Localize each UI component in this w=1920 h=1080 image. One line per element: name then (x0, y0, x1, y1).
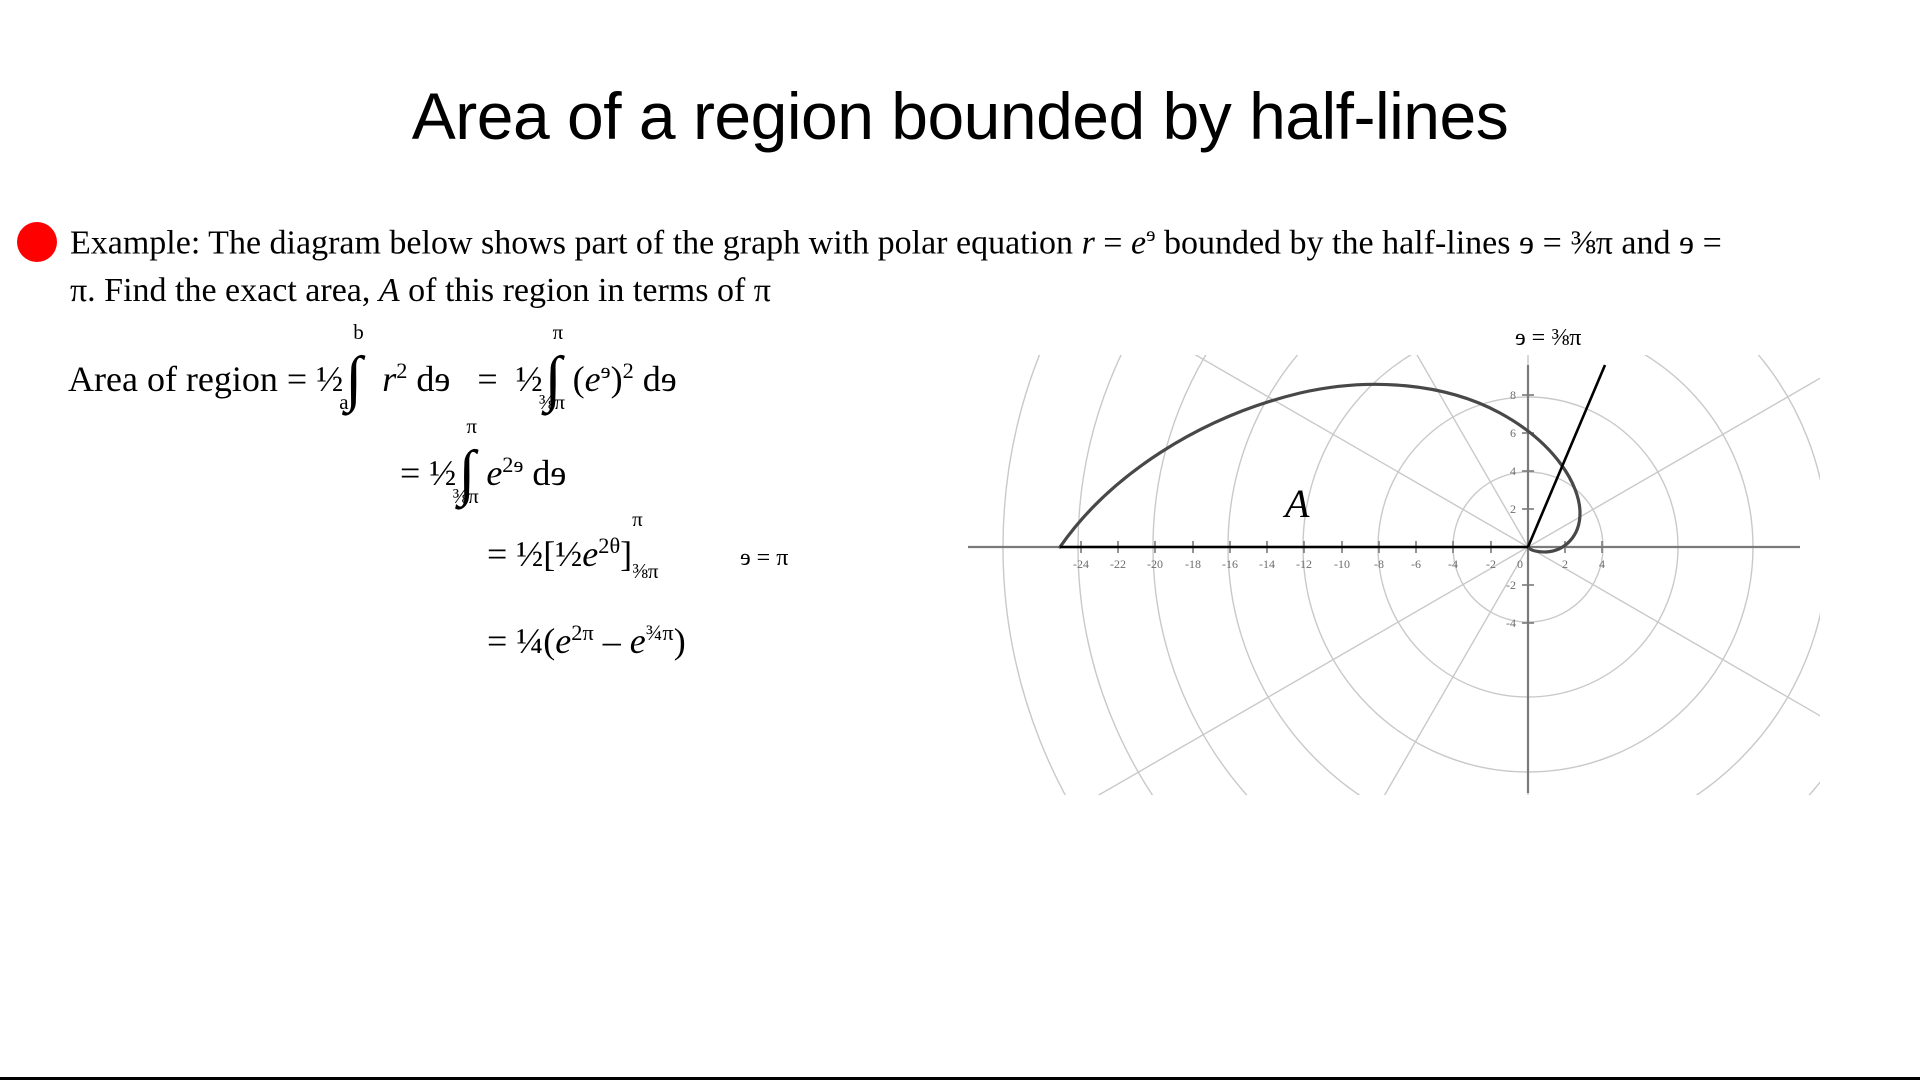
math4-minus: – (594, 621, 630, 661)
math3-e-exponent: 2θ (598, 533, 620, 558)
math3-e: e (582, 534, 598, 574)
math1-close-paren: ) (611, 359, 623, 399)
svg-text:0: 0 (1517, 557, 1523, 571)
math1-e-exponent: ɘ (601, 358, 611, 383)
svg-text:-18: -18 (1185, 557, 1201, 571)
svg-text:4: 4 (1510, 464, 1516, 478)
svg-text:-16: -16 (1222, 557, 1238, 571)
bracket-upper-limit: π (632, 507, 643, 532)
svg-text:2: 2 (1562, 557, 1568, 571)
math1-equals-2: = (477, 359, 497, 399)
svg-text:-8: -8 (1374, 557, 1384, 571)
bullet-marker-icon (17, 222, 57, 262)
math2-e: e (486, 453, 502, 493)
svg-text:-14: -14 (1259, 557, 1275, 571)
math1-e: e (585, 359, 601, 399)
svg-text:-4: -4 (1448, 557, 1458, 571)
math1-dtheta-2: dɘ (634, 359, 677, 399)
math4-e2: e (630, 621, 646, 661)
svg-text:-22: -22 (1110, 557, 1126, 571)
integral-1-lower-limit: a (339, 392, 348, 413)
math-line-2: = ½π∫⅜πe2ɘ dɘ (400, 452, 566, 498)
integral-1-upper-limit: b (353, 322, 364, 343)
integral-symbol-3: π∫⅜π (458, 456, 484, 498)
svg-text:-4: -4 (1506, 616, 1516, 630)
example-text-part2: bounded by the (1155, 224, 1373, 261)
svg-text:-2: -2 (1486, 557, 1496, 571)
polar-graph: -24-22 -20-18 -16-14 -12-10 -8-6 -4-2 02… (900, 355, 1820, 795)
svg-text:8: 8 (1510, 388, 1516, 402)
math4-close-paren: ) (674, 621, 686, 661)
math1-r: r (373, 359, 396, 399)
graph-svg: -24-22 -20-18 -16-14 -12-10 -8-6 -4-2 02… (900, 355, 1820, 795)
math1-open-paren: ( (573, 359, 585, 399)
svg-text:2: 2 (1510, 502, 1516, 516)
graph-label-theta-pi: ɘ = π (740, 545, 788, 572)
math3-close-bracket: ] (620, 534, 632, 574)
integral-3-lower-limit: ⅜π (452, 486, 478, 507)
math2-dtheta: dɘ (523, 453, 566, 493)
example-paragraph: Example: The diagram below shows part of… (70, 210, 1750, 315)
integral-2-upper-limit: π (553, 322, 564, 343)
integral-symbol-1: b∫a (345, 362, 371, 404)
svg-text:-20: -20 (1147, 557, 1163, 571)
math-line-1: Area of region = ½b∫a r2 dɘ = ½π∫⅜π(eɘ)2… (68, 358, 677, 404)
variable-r: r (1082, 224, 1095, 261)
svg-text:-6: -6 (1411, 557, 1421, 571)
bracket-lower-limit: ⅜π (632, 559, 658, 584)
svg-text:-24: -24 (1073, 557, 1089, 571)
equals-sign-1: = (1095, 224, 1131, 261)
slide-root: Area of a region bounded by half-lines E… (0, 0, 1920, 1080)
math1-squared: 2 (623, 358, 634, 383)
svg-text:-12: -12 (1296, 557, 1312, 571)
graph-label-region-A: A (1285, 480, 1309, 527)
page-title: Area of a region bounded by half-lines (0, 78, 1920, 154)
x-tick-labels: -24-22 -20-18 -16-14 -12-10 -8-6 -4-2 02… (1073, 557, 1605, 571)
example-text-part1: Example: The diagram below shows part of… (70, 224, 1082, 261)
math4-e2-exponent: ¾π (646, 620, 674, 645)
polar-grid-rays (1085, 355, 1820, 795)
variable-e: e (1131, 224, 1146, 261)
math1-dtheta: dɘ (407, 359, 450, 399)
math4-e1: e (555, 621, 571, 661)
polar-grid-circles (1003, 355, 1820, 795)
math1-r-exponent: 2 (396, 358, 407, 383)
svg-text:6: 6 (1510, 426, 1516, 440)
bracket-with-limits: ]π⅜π (620, 533, 632, 575)
integral-symbol-2: π∫⅜π (545, 362, 571, 404)
math4-e1-exponent: 2π (571, 620, 593, 645)
variable-A: A (379, 272, 400, 309)
math-line-3: = ½[½e2θ]π⅜π (487, 533, 632, 575)
math2-equals: = ½ (400, 453, 456, 493)
integral-2-lower-limit: ⅜π (539, 392, 565, 413)
polar-curve (1060, 384, 1580, 552)
math-line-4-result: = ¼(e2π – e¾π) (487, 620, 686, 662)
math4-equals: = ¼( (487, 621, 555, 661)
svg-text:-10: -10 (1334, 557, 1350, 571)
math1-lead: Area of region = ½ (68, 359, 343, 399)
example-text-part4: of this region in terms of π (400, 272, 771, 309)
y-tick-labels: 86 42 -2-4 (1506, 388, 1516, 630)
graph-label-theta-38: ɘ = ⅜π (1515, 325, 1581, 352)
integral-3-upper-limit: π (466, 416, 477, 437)
svg-text:4: 4 (1599, 557, 1605, 571)
halfline-theta-38 (1528, 365, 1605, 547)
svg-text:-2: -2 (1506, 578, 1516, 592)
math3-equals: = ½[½ (487, 534, 582, 574)
math2-e-exponent: 2ɘ (502, 452, 523, 477)
